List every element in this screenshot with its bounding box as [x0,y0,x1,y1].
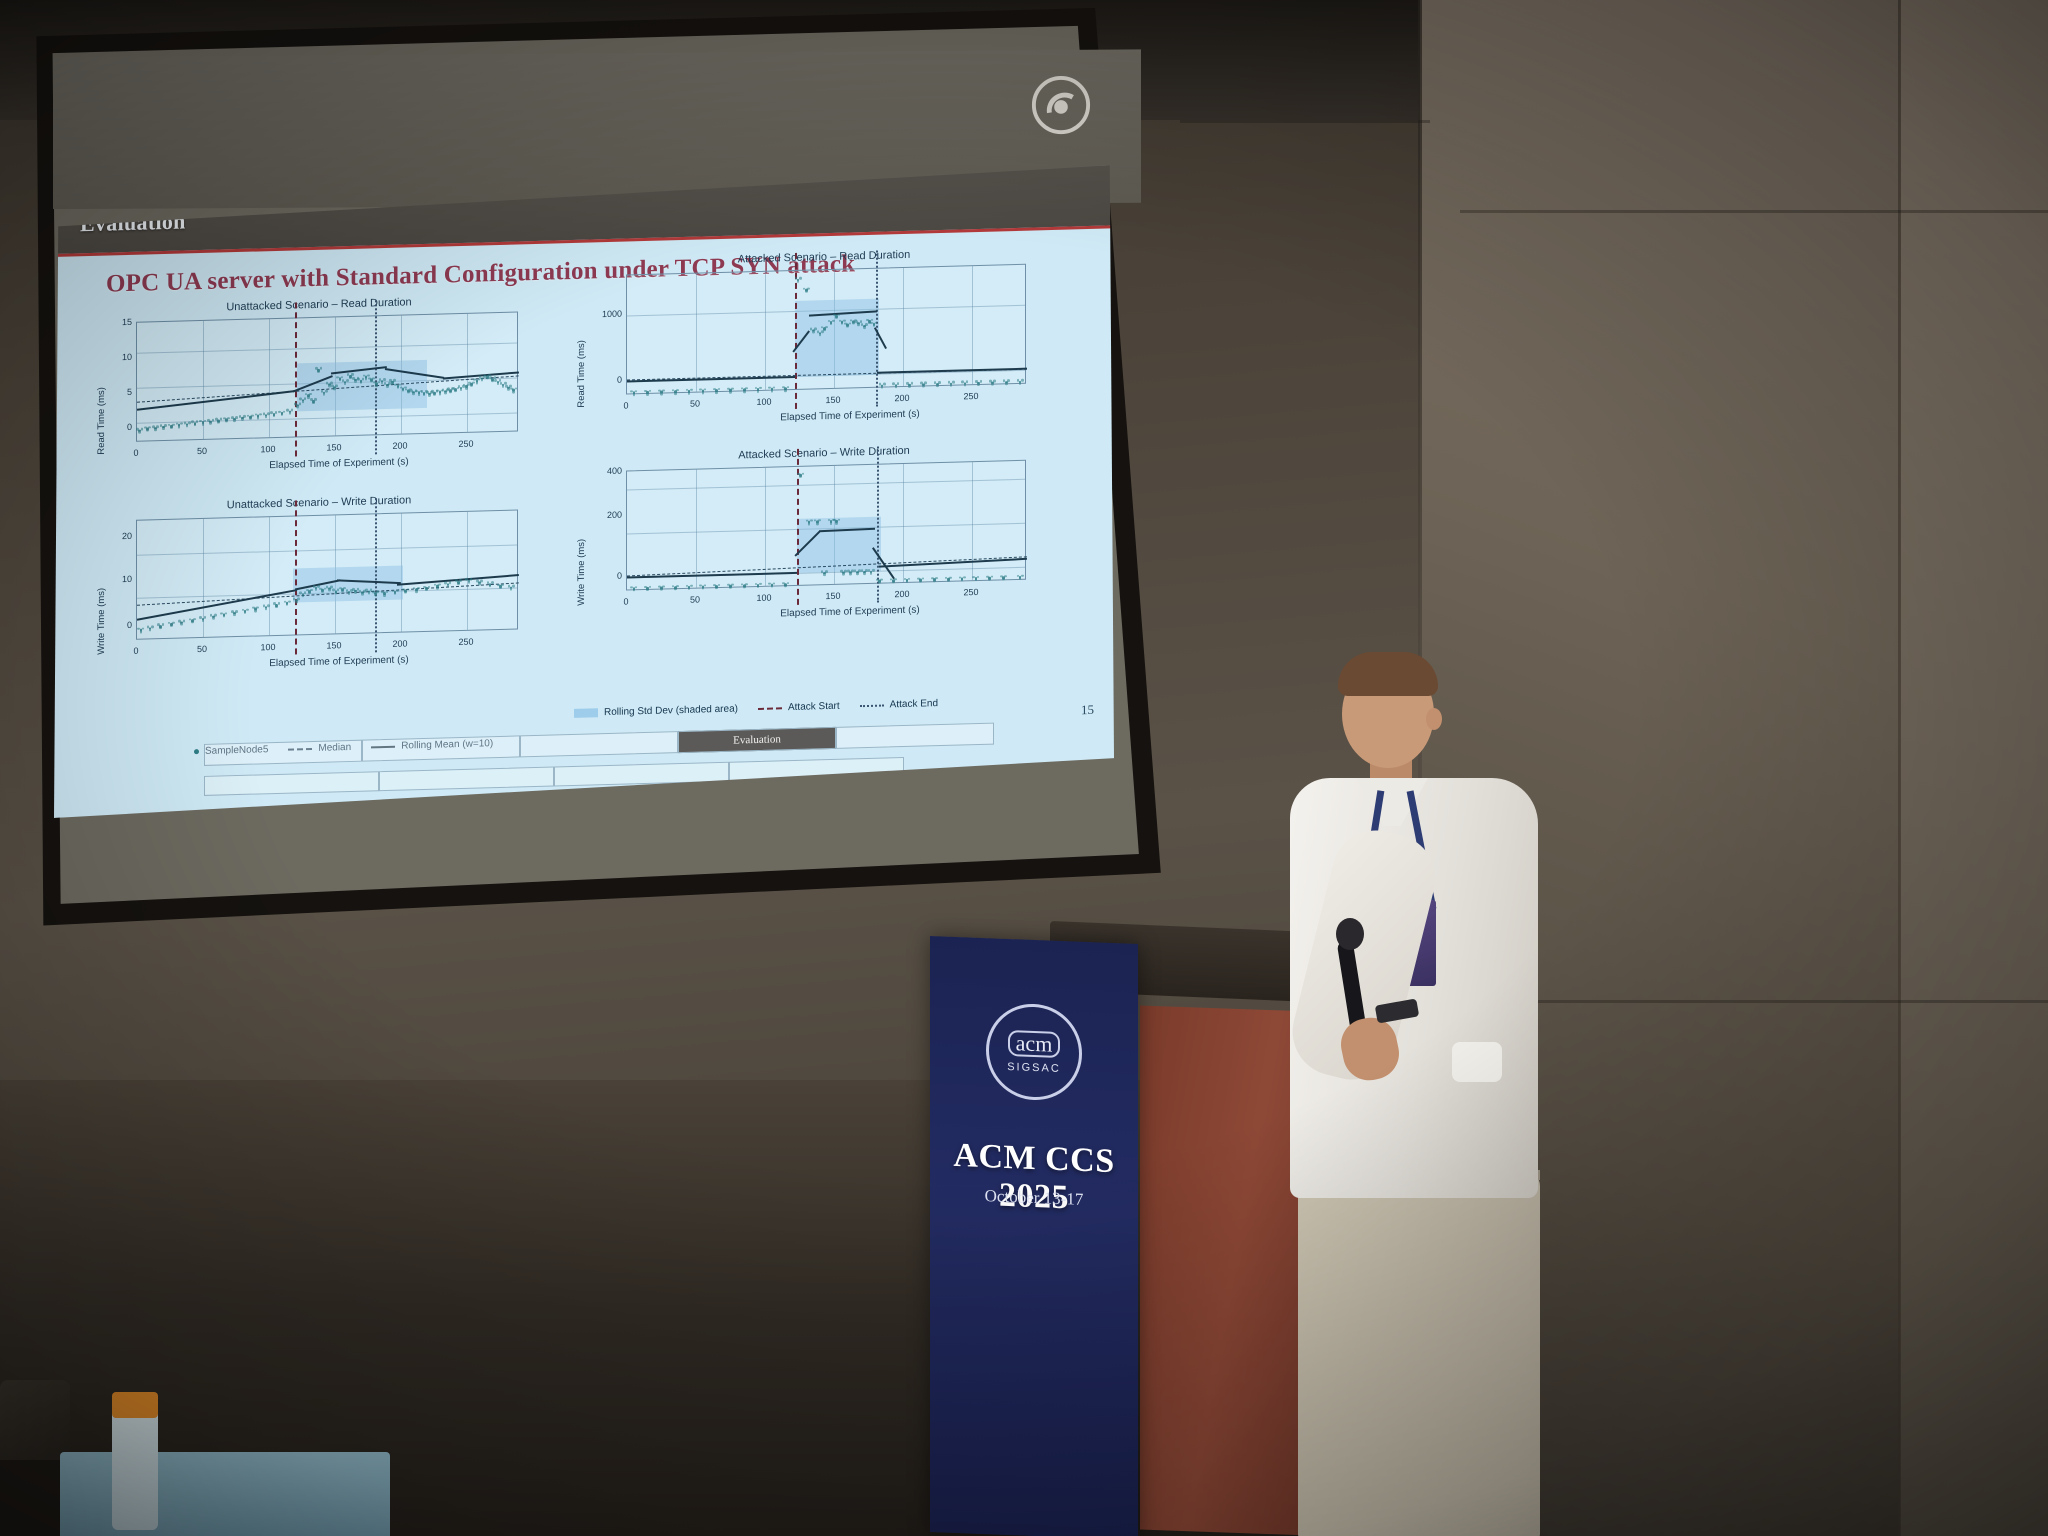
subprogress-segment[interactable] [204,771,379,796]
scatter-point [895,385,898,388]
scatter-point [908,385,911,388]
scatter-point [950,384,953,387]
gridline [269,517,270,635]
scatter-point [306,589,309,592]
x-tick: 250 [957,391,985,402]
scatter-point [162,623,165,626]
scatter-point [991,575,994,578]
scatter-point [428,394,431,397]
scatter-point [807,287,810,290]
scatter-point [906,581,909,584]
attack-start-line [295,302,297,456]
scatter-point [805,290,808,293]
scatter-point [162,427,165,430]
scatter-point [768,582,771,585]
scatter-point [215,418,218,421]
scatter-point [154,428,157,431]
y-tick: 1000 [580,309,622,320]
chart-attacked-write: Attacked Scenario – Write Duration Write… [574,440,1074,644]
scatter-point [897,382,900,385]
scatter-point [784,585,787,588]
scatter-point [454,390,457,393]
scatter-point [251,414,254,417]
subprogress-segment[interactable] [379,766,554,791]
progress-active-label: Evaluation [679,728,835,752]
scatter-point [881,386,884,389]
scatter-point [1000,575,1003,578]
scatter-point [383,594,386,597]
scatter-point [731,583,734,586]
scatter-point [975,579,978,582]
scatter-point [460,388,463,391]
scatter-point [802,472,805,475]
x-tick: 150 [320,442,348,453]
attack-end-swatch-icon [860,704,884,707]
scatter-point [993,380,996,383]
scatter-point [727,583,730,586]
scatter-point [223,615,226,618]
scatter-point [674,588,677,591]
sample-dot-icon [194,749,199,754]
scatter-point [170,625,173,628]
progress-segment[interactable] [362,735,520,761]
speaker-hair [1338,652,1438,696]
scatter-point [447,585,450,588]
scatter-point [273,415,276,418]
x-tick: 250 [452,438,480,449]
legend-label: Attack Start [788,701,840,713]
scatter-point [870,572,873,575]
scatter-point [497,382,500,385]
chart-xlabel: Elapsed Time of Experiment (s) [600,404,1100,429]
scatter-point [336,376,339,379]
std-dev-swatch-icon [574,708,598,718]
scatter-point [977,383,980,386]
scatter-point [835,522,838,525]
scatter-point [225,612,228,615]
gridline [137,544,517,555]
scatter-point [863,572,866,575]
scatter-point [729,586,732,589]
scatter-point [935,577,938,580]
scatter-point [876,578,879,581]
scatter-point [966,380,969,383]
scatter-point [333,388,336,391]
scatter-point [354,591,357,594]
x-tick: 200 [386,638,414,649]
chart-plot-area [136,311,518,441]
scatter-point [138,431,141,434]
scatter-point [963,576,966,579]
scatter-point [690,584,693,587]
progress-segment[interactable] [520,731,678,757]
scatter-point [690,389,693,392]
x-tick: 150 [320,640,348,651]
scatter-point [295,601,298,604]
scatter-point [178,426,181,429]
chart-xlabel: Elapsed Time of Experiment (s) [114,452,564,475]
scatter-point [312,402,315,405]
slide-page-number: 15 [1081,702,1094,718]
scatter-point [986,575,989,578]
chart-plot-area [626,460,1026,591]
scatter-point [660,393,663,396]
scatter-point [319,587,322,590]
scatter-point [931,577,934,580]
scatter-point [1021,574,1024,577]
scatter-point [757,390,760,393]
scatter-point [186,425,189,428]
scatter-point [220,612,223,615]
scatter-point [478,583,481,586]
scatter-point [658,585,661,588]
scatter-point [265,416,268,419]
scatter-point [922,577,925,580]
attack-end-line [375,300,377,454]
scatter-point [662,585,665,588]
scatter-point [212,617,215,620]
scatter-point [444,392,447,395]
scatter-point [220,418,223,421]
scatter-point [745,583,748,586]
scatter-point [217,421,220,424]
scatter-point [330,585,333,588]
legend-item-attack-end: Attack End [860,698,938,711]
scatter-point [233,419,236,422]
scatter-point [204,616,207,619]
conference-photo-scene: Evaluation OPC UA server with Standard C… [0,0,2048,1536]
scatter-point [646,393,649,396]
x-tick: 0 [612,596,640,607]
scatter-point [872,569,875,572]
speaker-ear [1426,708,1442,730]
scatter-point [718,583,721,586]
scatter-point [404,591,407,594]
scatter-point [235,416,238,419]
scatter-point [468,381,471,384]
x-tick: 100 [254,444,282,455]
scatter-point [191,621,194,624]
legend-item-std-dev: Rolling Std Dev (shaded area) [574,703,738,718]
scatter-point [880,578,883,581]
scatter-point [172,423,175,426]
legend-row-2: Rolling Std Dev (shaded area) Attack Sta… [574,698,958,719]
scatter-point [489,377,492,380]
scatter-point [980,380,983,383]
scatter-point [512,585,515,588]
scatter-point [235,610,238,613]
scatter-point [259,413,262,416]
scatter-point [849,573,852,576]
scatter-point [773,582,776,585]
x-tick: 150 [819,395,847,406]
scatter-point [660,588,663,591]
scatter-point [635,390,638,393]
progress-segment[interactable] [204,740,362,766]
scatter-point [180,422,183,425]
scatter-point [713,584,716,587]
scatter-point [389,379,392,382]
acm-ccs-banner: acm SIGSAC ACM CCS 2025 October 13-17 [930,936,1138,1536]
scatter-point [825,570,828,573]
scatter-point [704,584,707,587]
x-tick: 250 [452,636,480,647]
scatter-point [368,592,371,595]
progress-segment[interactable] [836,723,994,749]
scatter-point [759,582,762,585]
scatter-point [288,600,291,603]
x-tick: 100 [750,396,778,407]
scatter-point [291,409,294,412]
chart-ylabel: Read Time (ms) [576,340,587,408]
projection-screen: Evaluation OPC UA server with Standard C… [18,8,1170,948]
scatter-point [1004,575,1007,578]
y-tick: 0 [580,375,622,386]
scatter-point [797,280,800,283]
scatter-point [949,576,952,579]
x-tick: 150 [819,591,847,602]
progress-segment-active[interactable]: Evaluation [678,727,836,753]
scatter-point [415,590,418,593]
scatter-point [225,420,228,423]
scatter-point [361,593,364,596]
foreground-shadow [0,1460,60,1536]
scatter-point [938,381,941,384]
speaker-person [1270,650,1570,1536]
scatter-point [771,585,774,588]
scatter-point [254,610,257,613]
rolling-mean-line [627,572,797,578]
x-tick: 250 [957,587,985,598]
scatter-point [704,388,707,391]
chart-xlabel: Elapsed Time of Experiment (s) [600,600,1100,625]
x-tick: 100 [750,592,778,603]
scatter-point [267,412,270,415]
scatter-point [491,581,494,584]
scatter-point [351,373,354,376]
attack-start-line [295,500,297,654]
scatter-point [812,331,815,334]
gridline [972,266,973,384]
scatter-point [472,381,475,384]
scatter-point [281,414,284,417]
scatter-point [402,588,405,591]
y-tick: 10 [102,574,132,585]
scatter-point [172,621,175,624]
x-tick: 50 [681,398,709,409]
scatter-point [431,390,434,393]
scatter-point [214,614,217,617]
scatter-point [140,631,143,634]
scatter-point [275,606,278,609]
scatter-point [512,390,515,393]
y-tick: 0 [104,422,132,433]
x-tick: 200 [888,393,916,404]
scatter-point [325,390,328,393]
circular-conference-logo [1030,74,1092,136]
scatter-point [892,581,895,584]
x-tick: 0 [122,645,150,656]
scatter-point [922,385,925,388]
scatter-point [164,424,167,427]
scatter-point [286,604,289,607]
scatter-point [633,589,636,592]
water-bottle-cap [112,1392,158,1418]
y-tick: 0 [580,571,622,582]
scatter-point [194,424,197,427]
scatter-point [952,381,955,384]
y-tick: 5 [104,387,132,398]
legend-label: Attack End [890,698,938,710]
x-tick: 50 [681,594,709,605]
scatter-point [961,579,964,582]
scatter-point [635,586,638,589]
scatter-point [497,583,500,586]
acm-mark: acm [1008,1029,1061,1057]
scatter-point [844,322,847,325]
scatter-point [459,579,462,582]
scatter-point [141,428,144,431]
scatter-point [193,618,196,621]
scatter-point [470,385,473,388]
chart-plot-area [136,509,518,639]
scatter-point [911,382,914,385]
x-tick: 0 [612,400,640,411]
scatter-point [376,590,379,593]
scatter-point [151,625,154,628]
scatter-point [209,422,212,425]
scatter-point [465,387,468,390]
y-tick: 400 [580,466,622,477]
chart-attacked-read: Attacked Scenario – Read Duration Read T… [574,244,1074,448]
scatter-point [633,393,636,396]
x-tick: 50 [188,644,216,655]
scatter-point [346,379,349,382]
scatter-point [449,391,452,394]
scatter-point [267,604,270,607]
chart-unattacked-read: Unattacked Scenario – Read Duration Read… [94,293,544,495]
scatter-point [478,378,481,381]
scatter-point [149,629,152,632]
rolling-std-band [293,566,403,603]
scatter-point [646,589,649,592]
scatter-point [933,580,936,583]
scatter-point [947,580,950,583]
chart-plot-area [626,264,1026,395]
scatter-point [296,405,299,408]
scatter-point [315,367,318,370]
scatter-point [368,377,371,380]
scatter-point [1007,379,1010,382]
gridline [903,268,904,386]
scatter-point [825,326,828,329]
scatter-point [1005,382,1008,385]
scatter-point [283,410,286,413]
scatter-point [699,584,702,587]
scatter-point [310,398,313,401]
scatter-point [1019,382,1022,385]
scatter-point [894,578,897,581]
scatter-point [743,586,746,589]
legend-label: Rolling Std Dev (shaded area) [604,703,738,718]
speaker-trousers [1298,1170,1540,1536]
gridline [137,342,517,353]
scatter-point [396,589,399,592]
scatter-point [328,589,331,592]
scatter-point [833,313,836,316]
scatter-point [816,522,819,525]
scatter-point [183,619,186,622]
scatter-point [335,384,338,387]
x-tick: 200 [888,589,916,600]
scatter-point [180,623,183,626]
scatter-point [202,619,205,622]
scatter-point [843,319,846,322]
scatter-point [964,384,967,387]
scatter-point [757,586,760,589]
attack-start-swatch-icon [758,707,782,710]
chart-grid: Unattacked Scenario – Read Duration Read… [94,278,1084,705]
scatter-point [501,583,504,586]
x-tick: 0 [122,447,150,458]
x-tick: 200 [386,440,414,451]
scatter-point [455,579,458,582]
scatter-point [743,390,746,393]
scatter-point [314,398,317,401]
y-tick: 15 [104,317,132,328]
scatter-point [991,383,994,386]
scatter-point [433,393,436,396]
microphone-head [1336,918,1364,950]
scatter-point [374,593,377,596]
scatter-point [784,389,787,392]
scatter-point [1002,578,1005,581]
y-tick: 200 [580,510,622,521]
scatter-point [265,608,268,611]
scatter-point [480,580,483,583]
scatter-point [799,277,802,280]
scatter-point [924,381,927,384]
scatter-point [644,585,647,588]
scatter-point [302,400,305,403]
scatter-point [919,580,922,583]
scatter-point [649,585,652,588]
scatter-point [289,412,292,415]
scatter-point [188,421,191,424]
scatter-point [227,417,230,420]
scatter-point [246,608,249,611]
scatter-point [787,582,790,585]
scatter-point [476,382,479,385]
scatter-point [447,388,450,391]
scatter-point [273,602,276,605]
scatter-point [157,624,160,627]
wall-seam-2 [1898,0,1901,1536]
scatter-point [332,589,335,592]
scatter-point [449,581,452,584]
scatter-point [170,427,173,430]
presentation-slide: Evaluation OPC UA server with Standard C… [54,165,1114,818]
scatter-point [977,576,980,579]
scatter-point [146,429,149,432]
speaker-shirt-cuff [1452,1042,1502,1082]
gridline [467,512,468,630]
water-bottle [112,1400,158,1530]
scatter-point [489,585,492,588]
scatter-point [423,585,426,588]
scatter-point [832,319,835,322]
scatter-point [515,387,518,390]
